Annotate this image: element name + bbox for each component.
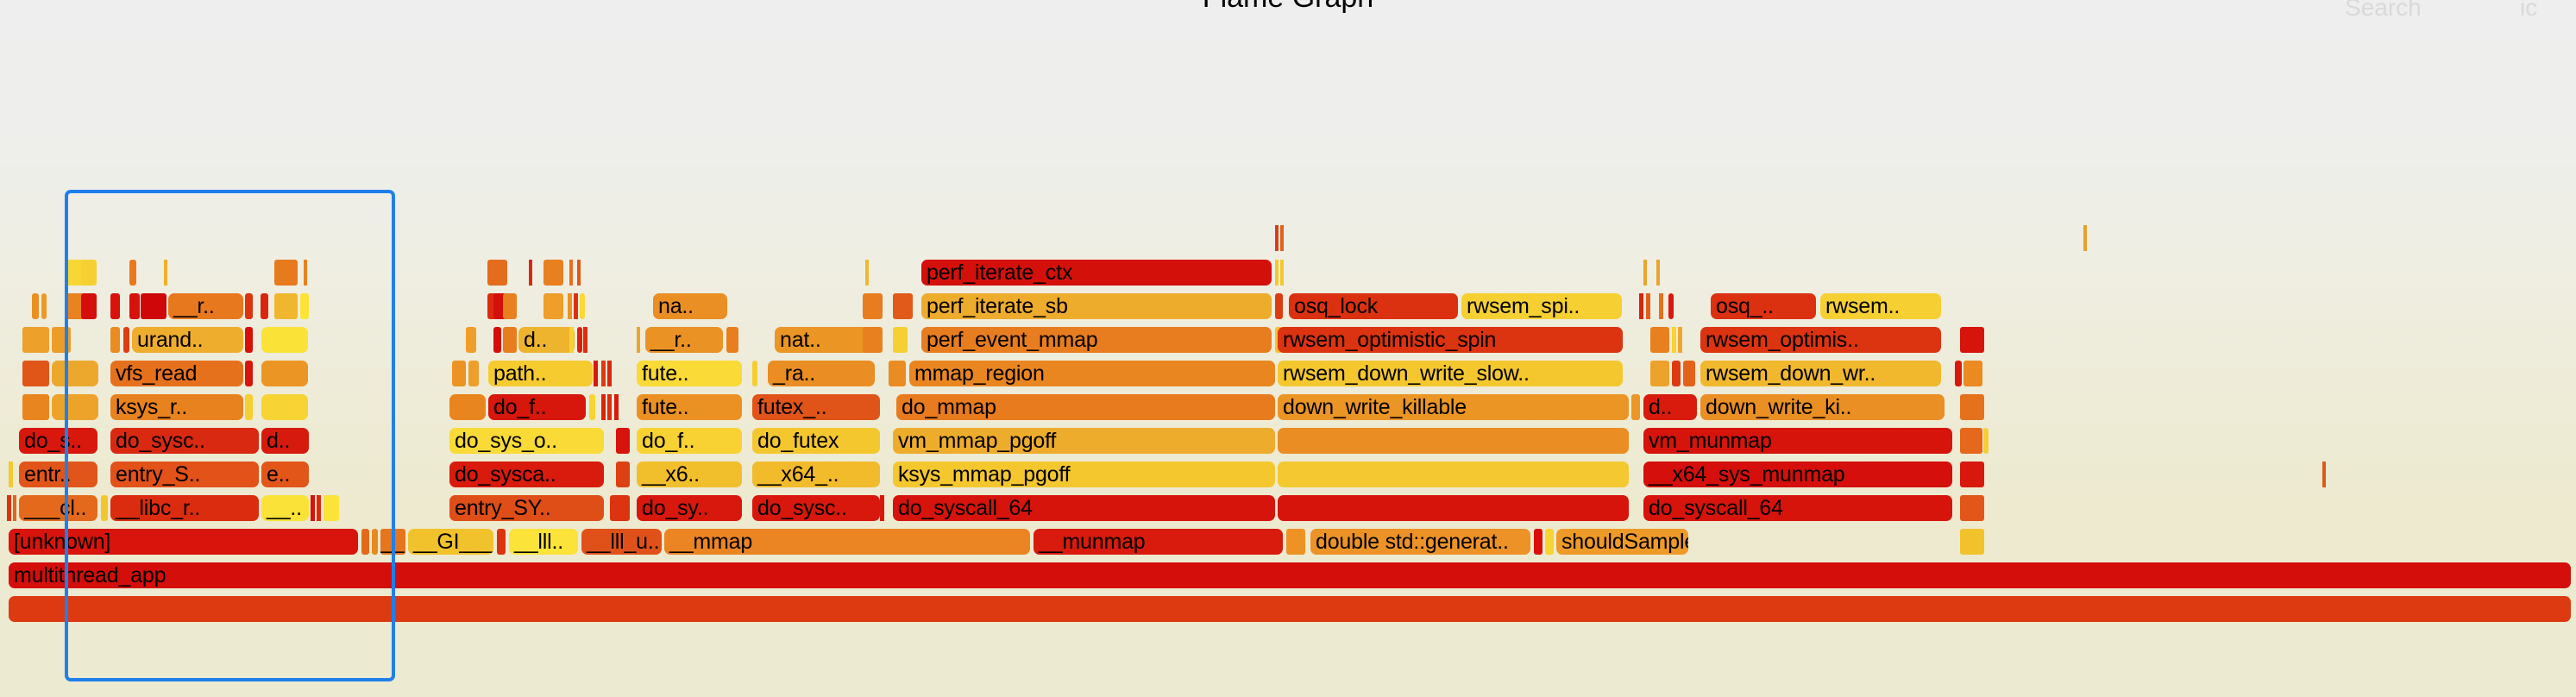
flame-frame-unlabeled[interactable] <box>261 361 308 386</box>
flame-frame-unlabeled[interactable] <box>569 327 574 353</box>
flame-frame[interactable]: nat.. <box>775 327 872 353</box>
flame-frame[interactable]: __r.. <box>168 293 243 319</box>
flame-frame-label: do_futex <box>757 429 839 453</box>
flame-frame[interactable]: __lll.. <box>509 529 578 555</box>
flame-frame-unlabeled[interactable] <box>304 260 307 286</box>
flame-frame-label: do_sysc.. <box>757 496 847 520</box>
flame-frame-unlabeled[interactable] <box>863 293 883 319</box>
flame-frame[interactable]: double std::generat.. <box>1310 529 1530 555</box>
flame-frame-label: fute.. <box>642 361 688 386</box>
flame-frame-unlabeled[interactable] <box>2083 225 2087 251</box>
flame-frame-unlabeled[interactable] <box>577 327 582 353</box>
flame-frame-label: __x6.. <box>642 462 700 487</box>
flame-frame-label: entr.. <box>24 462 71 487</box>
flame-frame[interactable]: down_write_killable <box>1278 394 1629 420</box>
search-input[interactable]: Search <box>2345 0 2422 22</box>
flame-frame[interactable]: mmap_region <box>909 361 1275 386</box>
flame-frame-unlabeled[interactable] <box>863 327 883 353</box>
flame-frame-label: do_syscall_64 <box>898 496 1033 520</box>
flame-frame-unlabeled[interactable] <box>1955 361 1962 386</box>
flame-frame[interactable]: rwsem_spi.. <box>1461 293 1622 319</box>
flame-frame-unlabeled[interactable] <box>1678 327 1682 353</box>
flame-frame-label: do_syscall_64 <box>1649 496 1783 520</box>
flame-frame-unlabeled[interactable] <box>245 327 253 353</box>
flame-frame[interactable]: vfs_read <box>110 361 243 386</box>
flame-frame-unlabeled[interactable] <box>568 293 572 319</box>
flame-frame-unlabeled[interactable] <box>1960 495 1984 521</box>
flame-frame[interactable]: vm_munmap <box>1643 428 1952 454</box>
flame-frame-unlabeled[interactable] <box>880 495 884 521</box>
flame-frame-unlabeled[interactable] <box>1280 225 1284 251</box>
flame-frame-unlabeled[interactable] <box>22 394 49 420</box>
flame-frame-label: nat.. <box>780 328 821 352</box>
flame-frame[interactable]: do_s.. <box>19 428 97 454</box>
flame-frame-label: urand.. <box>137 328 203 352</box>
flame-frame-label: __.. <box>267 496 302 520</box>
flame-frame[interactable]: do_sysc.. <box>752 495 880 521</box>
flame-frame-label: d.. <box>1649 395 1672 419</box>
flame-frame-unlabeled[interactable] <box>164 260 167 286</box>
flame-frame[interactable]: d.. <box>1643 394 1697 420</box>
flame-frame-label: e.. <box>267 462 290 487</box>
flame-frame-unlabeled[interactable] <box>543 260 563 286</box>
flame-frame-unlabeled[interactable] <box>601 361 606 386</box>
flame-frame-unlabeled[interactable] <box>245 293 253 319</box>
flame-frame-label: _ra.. <box>773 361 815 386</box>
flame-frame[interactable]: perf_event_mmap <box>921 327 1272 353</box>
flame-frame-unlabeled[interactable] <box>1960 462 1984 487</box>
flame-frame-label: __r.. <box>173 294 215 318</box>
flame-frame-unlabeled[interactable] <box>601 394 606 420</box>
flame-frame[interactable]: do_sys_o.. <box>449 428 604 454</box>
flame-frame-label: do_f.. <box>642 429 694 453</box>
flame-frame[interactable]: __munmap <box>1034 529 1283 555</box>
flame-frame-label: do_sy.. <box>642 496 708 520</box>
flame-frame-label: __mmap <box>669 530 752 554</box>
flame-frame-unlabeled[interactable] <box>589 394 595 420</box>
flame-frame-unlabeled[interactable] <box>52 327 71 353</box>
flame-graph-app: Flame Graph Search ic multithread_app[un… <box>0 0 2576 697</box>
flame-frame-unlabeled[interactable] <box>129 293 140 319</box>
flame-frame[interactable]: do_sysc.. <box>110 428 259 454</box>
flame-frame-unlabeled[interactable] <box>1545 529 1554 555</box>
flame-frame[interactable]: [unknown] <box>9 529 358 555</box>
flame-frame[interactable]: rwsem_down_wr.. <box>1700 361 1941 386</box>
flame-frame-unlabeled[interactable] <box>1275 260 1279 286</box>
flame-frame-unlabeled[interactable] <box>487 260 507 286</box>
flame-frame-unlabeled[interactable] <box>452 361 466 386</box>
flame-frame-unlabeled[interactable] <box>503 293 517 319</box>
flame-frame-label: d.. <box>267 429 290 453</box>
flame-frame-unlabeled[interactable] <box>22 361 49 386</box>
flame-frame-label: entry_S.. <box>116 462 200 487</box>
flame-frame-unlabeled[interactable] <box>22 327 49 353</box>
flame-frame-label: double std::generat.. <box>1316 530 1509 554</box>
flame-frame-unlabeled[interactable] <box>1963 361 1982 386</box>
flame-frame-unlabeled[interactable] <box>9 596 2571 622</box>
flame-frame-unlabeled[interactable] <box>110 327 120 353</box>
flame-frame-unlabeled[interactable] <box>1656 260 1660 286</box>
flame-frame-unlabeled[interactable] <box>101 495 108 521</box>
flame-frame-unlabeled[interactable] <box>1646 293 1650 319</box>
flame-frame-unlabeled[interactable] <box>726 327 738 353</box>
flame-frame-unlabeled[interactable] <box>543 293 563 319</box>
flame-frame-label: __r.. <box>650 328 692 352</box>
flame-frame-unlabeled[interactable] <box>752 361 757 386</box>
flame-frame-label: __x64_.. <box>757 462 839 487</box>
flame-frame[interactable]: ksys_mmap_pgoff <box>893 462 1275 487</box>
flame-frame-label: perf_iterate_ctx <box>927 261 1072 285</box>
flame-frame-unlabeled[interactable] <box>7 495 11 521</box>
flame-frame-label: path.. <box>493 361 546 386</box>
flame-frame-label: __lll.. <box>514 530 563 554</box>
flame-frame-label: do_f.. <box>493 395 546 419</box>
flame-frame-unlabeled[interactable] <box>261 327 308 353</box>
flame-frame[interactable]: urand.. <box>132 327 243 353</box>
flame-frame[interactable]: ___cl.. <box>19 495 97 521</box>
flame-frame-unlabeled[interactable] <box>1639 293 1643 319</box>
flame-frame-label: vfs_read <box>116 361 197 386</box>
flame-frame-label: [unknown] <box>14 530 110 554</box>
flame-frame[interactable]: rwsem_optimistic_spin <box>1278 327 1623 353</box>
flame-frame[interactable]: rwsem_down_write_slow.. <box>1278 361 1623 386</box>
flame-frame-label: multithread_app <box>14 563 166 587</box>
flame-frame-label: down_write_killable <box>1283 395 1467 419</box>
flame-frame-unlabeled[interactable] <box>1960 394 1984 420</box>
flame-frame-unlabeled[interactable] <box>1960 327 1984 353</box>
flame-frame-unlabeled[interactable] <box>274 293 298 319</box>
flame-frame-label: do_s.. <box>24 429 82 453</box>
flame-frame-unlabeled[interactable] <box>141 293 166 319</box>
flame-frame-label: osq_lock <box>1294 294 1378 318</box>
flame-frame-label: rwsem_down_wr.. <box>1706 361 1875 386</box>
flame-frame-label: na.. <box>658 294 694 318</box>
flame-frame-unlabeled[interactable] <box>577 260 581 286</box>
flame-frame-unlabeled[interactable] <box>311 495 315 521</box>
flame-frame-unlabeled[interactable] <box>300 293 309 319</box>
flame-frame-label: perf_event_mmap <box>927 328 1098 352</box>
flame-frame-unlabeled[interactable] <box>1280 260 1284 286</box>
flame-graph-surface[interactable]: Flame Graph Search ic multithread_app[un… <box>0 0 2576 697</box>
matched-count-label: ic <box>2520 0 2537 22</box>
flame-frame[interactable]: __lll_u.. <box>581 529 662 555</box>
flame-frame-unlabeled[interactable] <box>893 293 913 319</box>
flame-frame-unlabeled[interactable] <box>274 260 298 286</box>
flame-frame[interactable]: __x6.. <box>637 462 742 487</box>
flame-frame-label: perf_iterate_sb <box>927 294 1068 318</box>
flame-frame-label: do_sysc.. <box>116 429 205 453</box>
flame-frame-label: do_mmap <box>902 395 996 419</box>
flame-frame-label: __lll_u.. <box>587 530 659 554</box>
flame-frame-unlabeled[interactable] <box>1659 293 1663 319</box>
flame-frame[interactable]: rwsem_optimis.. <box>1700 327 1941 353</box>
flame-frame[interactable]: osq_.. <box>1711 293 1816 319</box>
flame-frame-unlabeled[interactable] <box>580 293 585 319</box>
flame-frame-unlabeled[interactable] <box>81 293 97 319</box>
flame-frame[interactable]: __GI___li.. <box>408 529 493 555</box>
flame-frame[interactable]: vm_mmap_pgoff <box>893 428 1275 454</box>
flame-frame-label: __x64_sys_munmap <box>1649 462 1845 487</box>
flame-frame-unlabeled[interactable] <box>1275 225 1279 251</box>
flame-frame[interactable]: do_mmap <box>896 394 1275 420</box>
flame-frame-unlabeled[interactable] <box>123 327 129 353</box>
flame-frame-unlabeled[interactable] <box>889 361 906 386</box>
flame-frame-unlabeled[interactable] <box>616 428 630 454</box>
flame-frame[interactable]: fute.. <box>637 394 742 420</box>
flame-frame-unlabeled[interactable] <box>529 260 532 286</box>
flame-frame-unlabeled[interactable] <box>574 293 578 319</box>
flame-frame-unlabeled[interactable] <box>9 462 13 487</box>
flame-frame[interactable]: do_f.. <box>637 428 742 454</box>
flame-frame-label: osq_.. <box>1716 294 1774 318</box>
flame-frame[interactable]: na.. <box>653 293 727 319</box>
flame-frame-label: rwsem_optimistic_spin <box>1283 328 1496 352</box>
flame-frame[interactable]: d.. <box>518 327 575 353</box>
flame-frame[interactable]: d.. <box>261 428 309 454</box>
flame-frame-unlabeled[interactable] <box>637 327 640 353</box>
flame-frame-unlabeled[interactable] <box>13 495 16 521</box>
flame-frame[interactable]: do_syscall_64 <box>1643 495 1952 521</box>
flame-frame-unlabeled[interactable] <box>893 327 908 353</box>
flame-frame[interactable]: do_futex <box>752 428 880 454</box>
flame-frame[interactable]: __.. <box>380 529 405 555</box>
flame-frame-label: __libc_r.. <box>116 496 200 520</box>
flame-frame-label: ksys_r.. <box>116 395 187 419</box>
flame-frame-unlabeled[interactable] <box>245 394 253 420</box>
flame-frame[interactable]: multithread_app <box>9 562 2571 588</box>
flame-frame-label: do_sys_o.. <box>455 429 557 453</box>
flame-frame-label: __munmap <box>1039 530 1145 554</box>
flame-frame-unlabeled[interactable] <box>607 361 612 386</box>
flame-frame-unlabeled[interactable] <box>616 462 630 487</box>
flame-frame-unlabeled[interactable] <box>1683 361 1695 386</box>
flame-frame[interactable]: entr.. <box>19 462 97 487</box>
flame-frame-unlabeled[interactable] <box>245 361 253 386</box>
flame-frame-unlabeled[interactable] <box>1534 529 1542 555</box>
flame-frame-unlabeled[interactable] <box>466 327 476 353</box>
flame-frame[interactable]: entry_S.. <box>110 462 259 487</box>
flame-frame-label: vm_mmap_pgoff <box>898 429 1056 453</box>
flame-frame-unlabeled[interactable] <box>1650 361 1669 386</box>
flame-frame[interactable]: __r.. <box>645 327 723 353</box>
flame-frame-label: shouldSample <box>1561 530 1688 554</box>
flame-frame-label: rwsem_spi.. <box>1467 294 1580 318</box>
flame-frame-unlabeled[interactable] <box>1668 293 1674 319</box>
flame-frame-label: down_write_ki.. <box>1706 395 1851 419</box>
flame-frame-unlabeled[interactable] <box>81 260 97 286</box>
flame-frame-unlabeled[interactable] <box>1286 529 1305 555</box>
flame-frame-unlabeled[interactable] <box>317 495 321 521</box>
flame-frame-unlabeled[interactable] <box>2322 462 2326 487</box>
page-title: Flame Graph <box>0 0 2576 15</box>
flame-frame-unlabeled[interactable] <box>610 495 630 521</box>
flame-frame[interactable]: ksys_r.. <box>110 394 243 420</box>
flame-frame-unlabeled[interactable] <box>614 394 619 420</box>
flame-frame-label: __GI___li.. <box>413 530 493 554</box>
flame-frame-unlabeled[interactable] <box>1960 529 1984 555</box>
flame-frame[interactable]: __mmap <box>664 529 1030 555</box>
flame-frame-label: fute.. <box>642 395 688 419</box>
flame-frame[interactable]: futex_.. <box>752 394 880 420</box>
flame-frame-unlabeled[interactable] <box>468 361 479 386</box>
flame-frame[interactable]: perf_iterate_sb <box>921 293 1272 319</box>
flame-frame-unlabeled[interactable] <box>1278 462 1629 487</box>
flame-frame-unlabeled[interactable] <box>1650 327 1669 353</box>
flame-frame[interactable]: down_write_ki.. <box>1700 394 1945 420</box>
flame-frame-unlabeled[interactable] <box>41 293 47 319</box>
flame-frame[interactable]: do_sy.. <box>637 495 742 521</box>
flame-frame-label: ___cl.. <box>24 496 86 520</box>
flame-frame-unlabeled[interactable] <box>1672 327 1676 353</box>
flame-frame-label: __.. <box>380 530 405 554</box>
flame-frame-label: rwsem_down_write_slow.. <box>1283 361 1530 386</box>
flame-frame-unlabeled[interactable] <box>583 327 587 353</box>
flame-frame[interactable]: osq_lock <box>1289 293 1458 319</box>
flame-frame[interactable]: shouldSample <box>1556 529 1688 555</box>
flame-frame-label: ksys_mmap_pgoff <box>898 462 1070 487</box>
flame-frame-unlabeled[interactable] <box>129 260 136 286</box>
flame-frame[interactable]: path.. <box>488 361 593 386</box>
flame-frame-unlabeled[interactable] <box>52 361 98 386</box>
flame-frame[interactable]: do_syscall_64 <box>893 495 1275 521</box>
flame-frame-unlabeled[interactable] <box>1631 394 1640 420</box>
flame-frame-unlabeled[interactable] <box>493 327 501 353</box>
flame-frame[interactable]: __x64_.. <box>752 462 880 487</box>
flame-frame-unlabeled[interactable] <box>449 394 486 420</box>
flame-frame-unlabeled[interactable] <box>361 529 369 555</box>
flame-frame-unlabeled[interactable] <box>1643 260 1647 286</box>
flame-frame[interactable]: fute.. <box>637 361 742 386</box>
flame-frame-unlabeled[interactable] <box>1278 428 1629 454</box>
flame-frame-unlabeled[interactable] <box>865 260 869 286</box>
flame-frame-unlabeled[interactable] <box>110 293 120 319</box>
flame-frame-label: rwsem.. <box>1825 294 1900 318</box>
flame-frame-unlabeled[interactable] <box>607 394 612 420</box>
flame-frame-label: rwsem_optimis.. <box>1706 328 1859 352</box>
flame-frame-unlabeled[interactable] <box>32 293 39 319</box>
flame-frame[interactable]: rwsem.. <box>1820 293 1941 319</box>
flame-frame-label: mmap_region <box>914 361 1045 386</box>
flame-frame[interactable]: __.. <box>261 495 309 521</box>
flame-frame-unlabeled[interactable] <box>372 529 378 555</box>
flame-frame-unlabeled[interactable] <box>324 495 339 521</box>
flame-frame-unlabeled[interactable] <box>1278 495 1629 521</box>
flame-frame-unlabeled[interactable] <box>569 260 573 286</box>
flame-frame-label: d.. <box>524 328 547 352</box>
flame-frame-unlabeled[interactable] <box>503 327 517 353</box>
flame-frame-unlabeled[interactable] <box>1983 428 1989 454</box>
flame-frame[interactable]: entry_SY.. <box>449 495 604 521</box>
flame-frame-label: vm_munmap <box>1649 429 1772 453</box>
flame-frame-unlabeled[interactable] <box>1275 293 1283 319</box>
flame-frame[interactable]: do_f.. <box>488 394 586 420</box>
flame-frame-unlabeled[interactable] <box>497 529 506 555</box>
flame-frame-unlabeled[interactable] <box>261 293 268 319</box>
flame-frame[interactable]: __x64_sys_munmap <box>1643 462 1952 487</box>
flame-frame-unlabeled[interactable] <box>1672 361 1681 386</box>
flame-frame-unlabeled[interactable] <box>52 394 98 420</box>
flame-frame-unlabeled[interactable] <box>1960 428 1982 454</box>
flame-frame[interactable]: __libc_r.. <box>110 495 259 521</box>
flame-frame-label: do_sysca.. <box>455 462 556 487</box>
flame-frame-label: futex_.. <box>757 395 826 419</box>
flame-frame[interactable]: _ra.. <box>768 361 875 386</box>
flame-frame-unlabeled[interactable] <box>594 361 598 386</box>
flame-frame[interactable]: e.. <box>261 462 309 487</box>
flame-frame-label: entry_SY.. <box>455 496 551 520</box>
flame-frame-unlabeled[interactable] <box>261 394 308 420</box>
flame-frame[interactable]: perf_iterate_ctx <box>921 260 1272 286</box>
flame-frame[interactable]: do_sysca.. <box>449 462 604 487</box>
